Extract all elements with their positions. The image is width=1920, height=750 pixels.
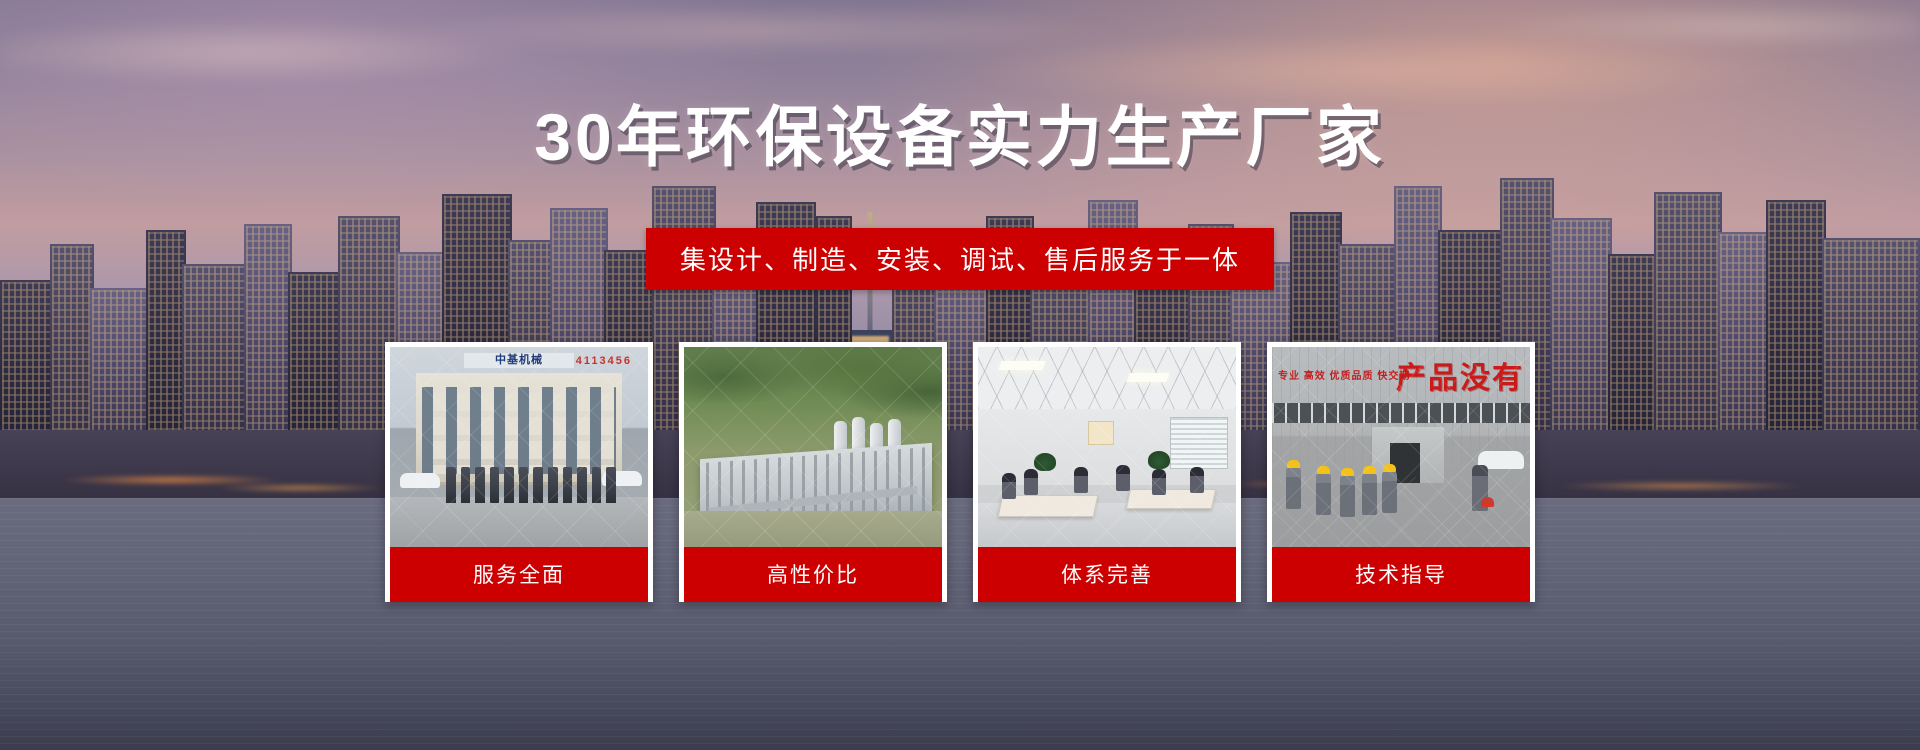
feature-card-label: 服务全面 (390, 547, 648, 602)
feature-card-label: 技术指导 (1272, 547, 1530, 602)
feature-card[interactable]: 专业 高效 优质品质 快交期 产品没有 技术指导 (1267, 342, 1535, 602)
watermark-overlay (1272, 347, 1530, 547)
watermark-overlay (390, 347, 648, 547)
watermark-overlay (684, 347, 942, 547)
company-headquarters-building-photo: 中基机械 4113456 (390, 347, 648, 547)
banner-subtitle-badge: 集设计、制造、安装、调试、售后服务于一体 (646, 228, 1274, 290)
watermark-overlay (978, 347, 1236, 547)
hero-banner: 30年环保设备实力生产厂家 集设计、制造、安装、调试、售后服务于一体 中基机械 … (0, 0, 1920, 750)
subtitle-container: 集设计、制造、安装、调试、售后服务于一体 (0, 228, 1920, 290)
feature-card-list: 中基机械 4113456 服务全面 (0, 342, 1920, 602)
feature-card-label: 体系完善 (978, 547, 1236, 602)
aerial-factory-plant-photo (684, 347, 942, 547)
feature-card-label: 高性价比 (684, 547, 942, 602)
feature-card[interactable]: 中基机械 4113456 服务全面 (385, 342, 653, 602)
feature-card[interactable]: 体系完善 (973, 342, 1241, 602)
factory-yard-workers-photo: 专业 高效 优质品质 快交期 产品没有 (1272, 347, 1530, 547)
office-interior-staff-photo (978, 347, 1236, 547)
feature-card[interactable]: 高性价比 (679, 342, 947, 602)
banner-headline: 30年环保设备实力生产厂家 (0, 104, 1920, 170)
